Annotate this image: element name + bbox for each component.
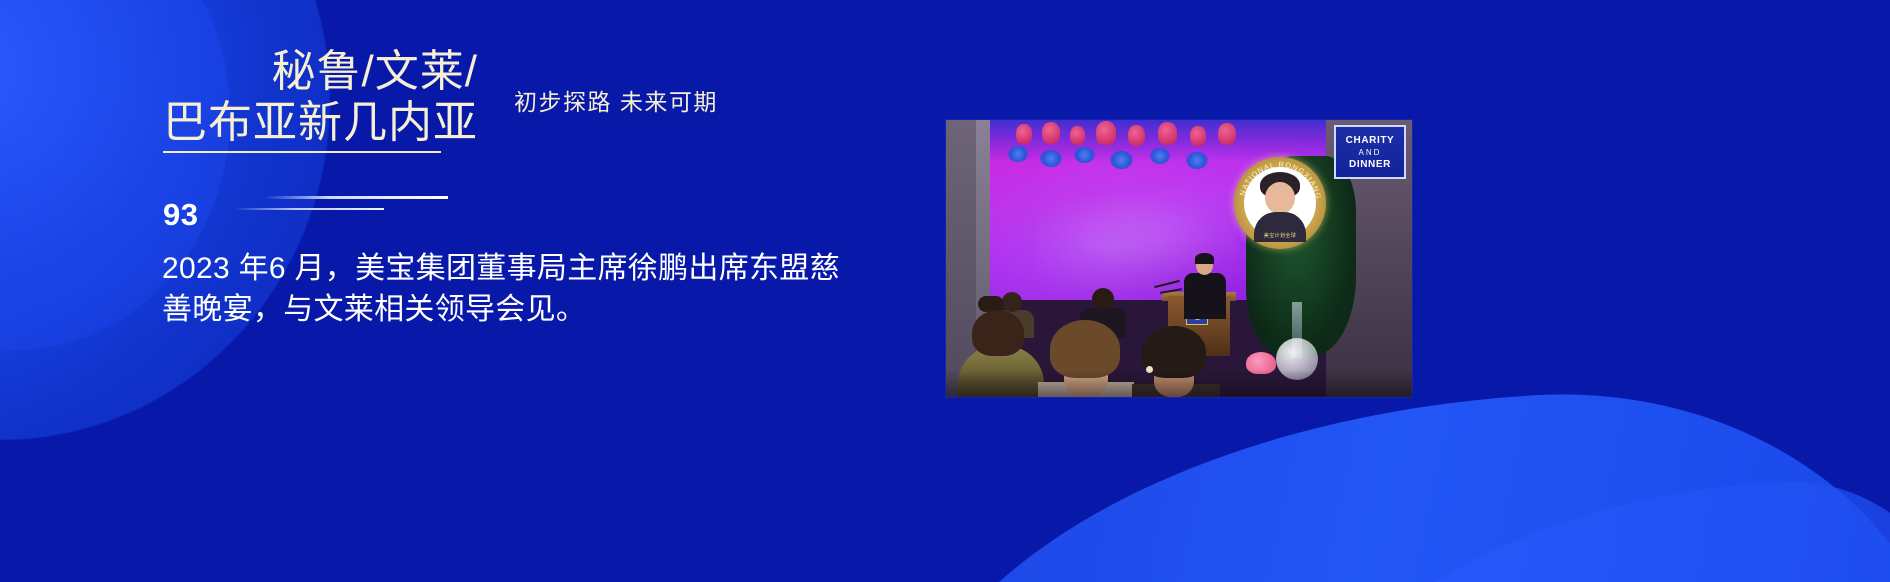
photo-charity-dinner-sign: CHARITY AND DINNER	[1334, 125, 1406, 179]
decorative-rule-upper	[264, 196, 448, 199]
photo-emblem-ring-label: NATIONAL RONGXIANG XU FOUNDATION	[1234, 157, 1323, 203]
photo-speaker-body	[1184, 273, 1226, 319]
photo-lantern-1	[1016, 124, 1032, 144]
svg-text:NATIONAL RONGXIANG XU FOUNDATI: NATIONAL RONGXIANG XU FOUNDATION	[1234, 157, 1323, 203]
photo-flower-3	[1074, 147, 1095, 163]
photo-flower-6	[1186, 152, 1208, 169]
photo-background-guest-2-head	[1002, 292, 1022, 312]
photo-flower-2	[1040, 150, 1062, 167]
page-subtitle: 初步探路 未来可期	[514, 83, 718, 117]
title-line-1: 秘鲁/文莱/	[163, 46, 478, 97]
page-title: 秘鲁/文莱/ 巴布亚新几内亚	[163, 46, 478, 153]
item-number: 93	[163, 197, 198, 233]
photo-lantern-8	[1218, 123, 1236, 145]
photo-lantern-3	[1070, 126, 1085, 145]
charity-sign-line-2: AND	[1359, 147, 1382, 158]
photo-lantern-2	[1042, 122, 1060, 144]
photo-foreground-shadow	[946, 370, 1412, 397]
photo-lantern-7	[1190, 126, 1206, 146]
photo-guest-1-hair	[972, 310, 1024, 356]
title-underline	[163, 151, 441, 153]
body-paragraph: 2023 年6 月，美宝集团董事局主席徐鹏出席东盟慈善晚宴，与文莱相关领导会见。	[162, 248, 852, 330]
photo-background-guest-1-head	[1092, 288, 1114, 310]
charity-sign-line-1: CHARITY	[1346, 135, 1395, 146]
photo-lantern-6	[1158, 122, 1177, 145]
photo-lantern-4	[1096, 121, 1116, 145]
photo-emblem-subtext: 美宝计划全球	[1244, 232, 1316, 239]
decorative-rule-lower	[234, 208, 384, 211]
photo-speaker-hair	[1195, 253, 1214, 264]
photo-flower-4	[1110, 151, 1133, 169]
title-line-2: 巴布亚新几内亚	[163, 97, 478, 148]
photo-lantern-5	[1128, 125, 1145, 146]
slide-content: 秘鲁/文莱/ 巴布亚新几内亚 初步探路 未来可期 93 2023 年6 月，美宝…	[0, 0, 1890, 582]
event-photo: NATIONAL RONGXIANG XU FOUNDATION 美宝计划全球	[946, 120, 1412, 397]
photo-flower-5	[1150, 148, 1170, 164]
photo-flower-1	[1008, 146, 1028, 162]
charity-sign-line-3: DINNER	[1349, 159, 1391, 170]
decorative-rules	[196, 196, 448, 210]
